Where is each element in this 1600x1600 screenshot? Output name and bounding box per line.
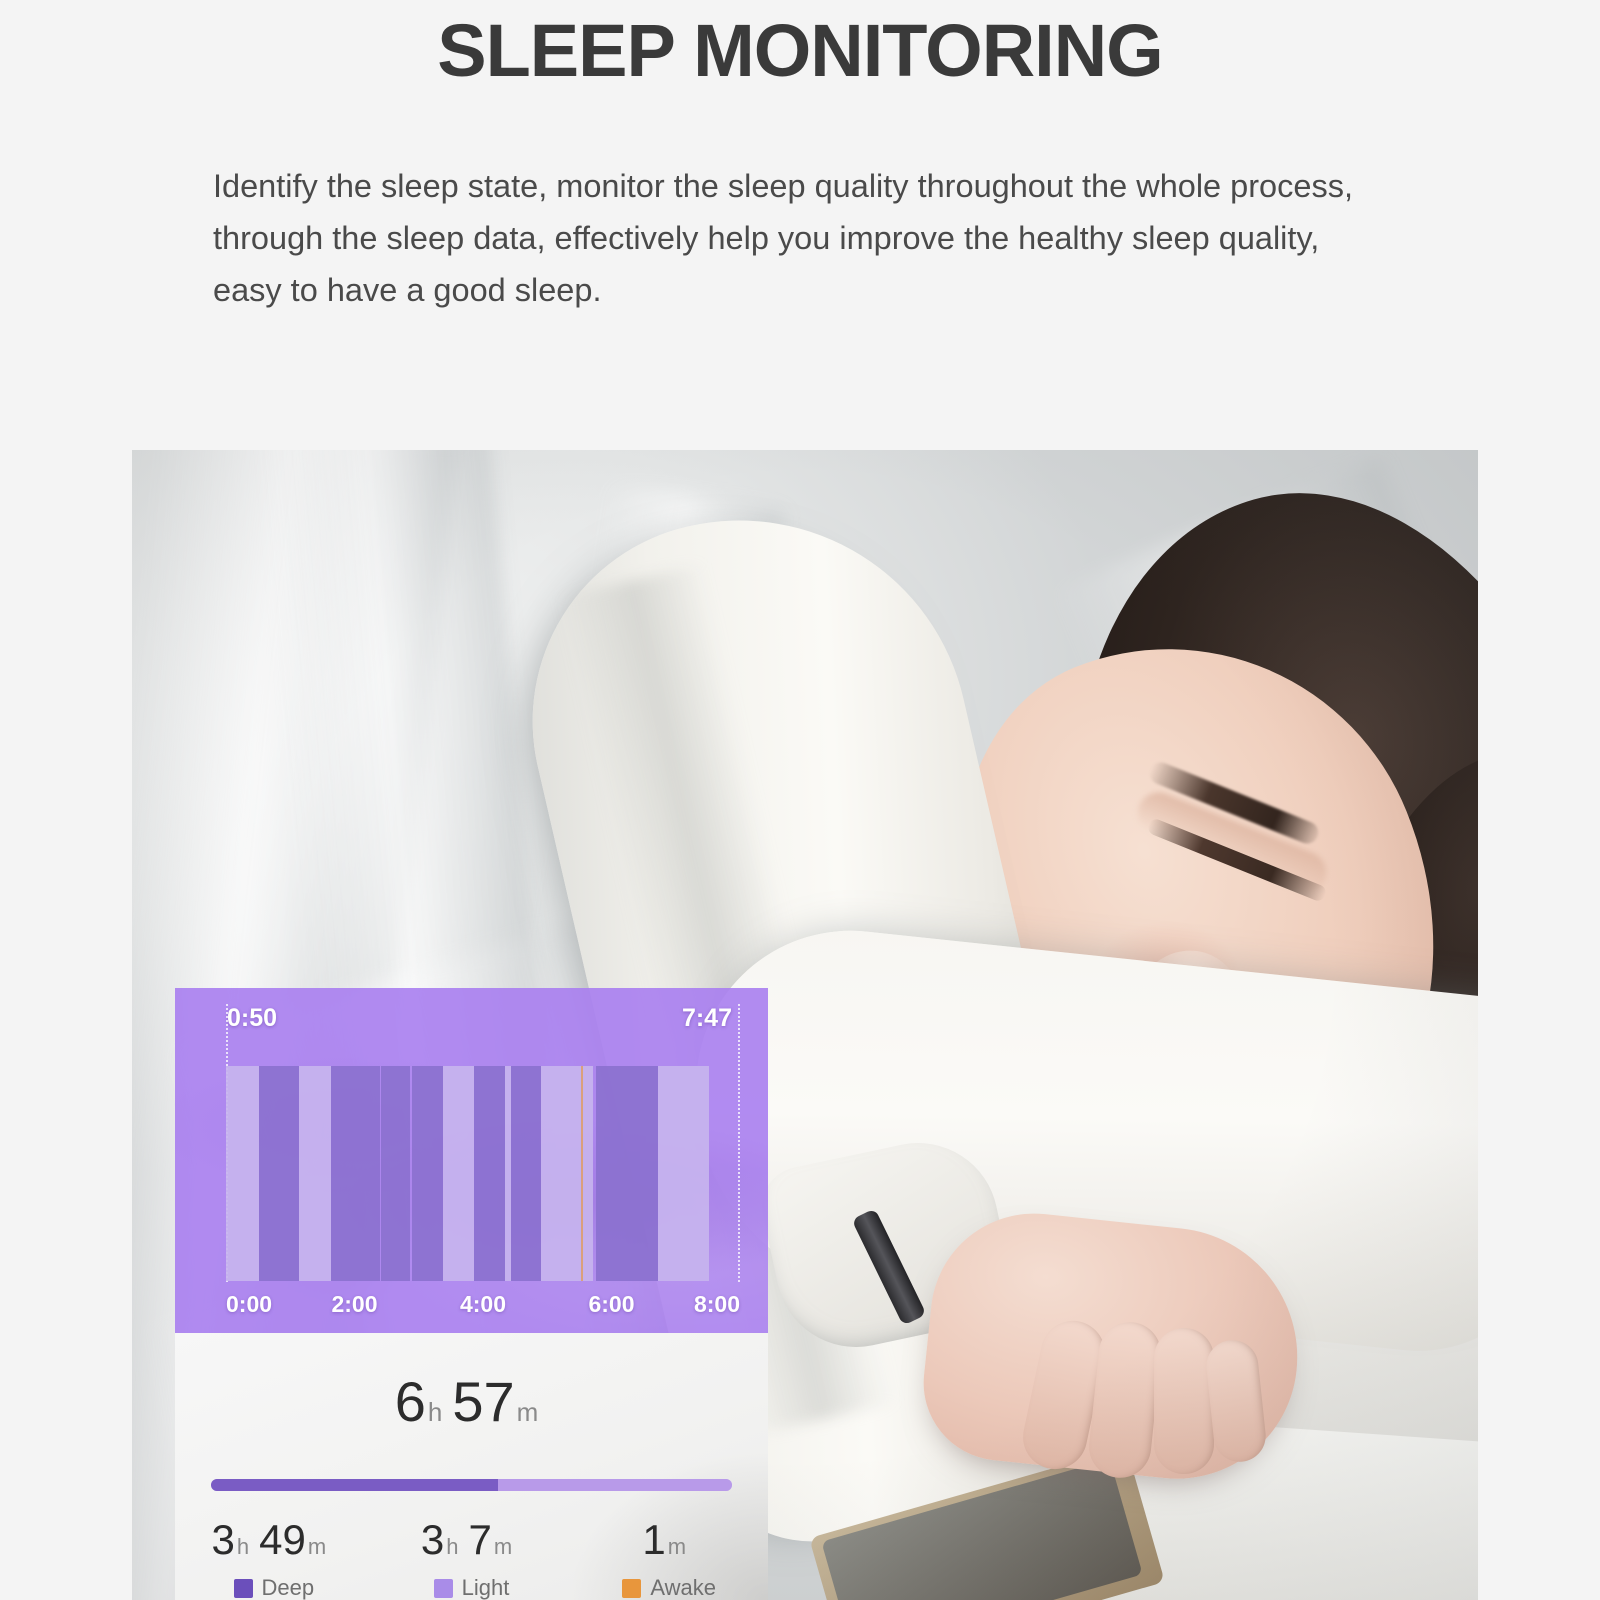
sleep-segment-deep — [259, 1066, 299, 1281]
sleep-segment-deep — [596, 1066, 658, 1281]
stat-value-awake: 1m — [570, 1519, 768, 1561]
sleep-segment-deep — [331, 1066, 380, 1281]
stat-value-light: 3h7m — [373, 1519, 571, 1561]
legend-label-light: Light — [462, 1575, 510, 1600]
legend-swatch-awake-icon — [622, 1579, 641, 1598]
sleep-segment-light — [226, 1066, 259, 1281]
stat-hours-unit-light: h — [446, 1534, 458, 1559]
sleep-segment-deep — [474, 1066, 505, 1281]
sleep-segment-deep — [381, 1066, 409, 1281]
x-axis-tick: 6:00 — [588, 1291, 634, 1318]
sleep-segment-light — [658, 1066, 709, 1281]
stat-column-light: 3h7mLight — [373, 1519, 571, 1600]
sleep-start-time: 0:50 — [227, 1004, 277, 1033]
legend-entry-deep: Deep — [175, 1575, 373, 1600]
sleep-segment-light — [541, 1066, 594, 1281]
total-hours: 6 — [395, 1370, 426, 1433]
chart-x-axis: 0:002:004:006:008:00 — [175, 1291, 768, 1321]
total-sleep-duration: 6h57m — [175, 1369, 768, 1434]
legend-entry-awake: Awake — [570, 1575, 768, 1600]
sleep-stage-chart: 0:50 7:47 0:002:004:006:008:00 — [175, 988, 768, 1333]
stat-column-awake: 1mAwake — [570, 1519, 768, 1600]
legend-label-deep: Deep — [262, 1575, 315, 1600]
page-description: Identify the sleep state, monitor the sl… — [213, 160, 1393, 316]
total-minutes-unit: m — [517, 1397, 539, 1427]
legend-entry-light: Light — [373, 1575, 571, 1600]
progress-light-segment — [498, 1479, 732, 1491]
legend-label-awake: Awake — [650, 1575, 716, 1600]
stat-minutes-unit-deep: m — [308, 1534, 326, 1559]
sleep-segment-deep — [412, 1066, 443, 1281]
stat-hours-unit-deep: h — [237, 1534, 249, 1559]
x-axis-tick: 4:00 — [460, 1291, 506, 1318]
stat-minutes-unit-light: m — [494, 1534, 512, 1559]
legend-swatch-light-icon — [434, 1579, 453, 1598]
stat-minutes-unit-awake: m — [668, 1534, 686, 1559]
sleep-stage-bars — [226, 1066, 740, 1281]
sleep-segment-light — [443, 1066, 474, 1281]
sleep-stage-legend: 3h49mDeep3h7mLight1mAwake — [175, 1519, 768, 1600]
sleep-composition-bar — [211, 1479, 732, 1491]
sleep-segment-deep — [511, 1066, 541, 1281]
page-title: SLEEP MONITORING — [0, 8, 1600, 93]
sleep-stats-panel: 6h57m 3h49mDeep3h7mLight1mAwake — [175, 1333, 768, 1600]
sleep-time-range: 0:50 7:47 — [175, 1004, 768, 1042]
stat-value-deep: 3h49m — [175, 1519, 373, 1561]
total-minutes: 57 — [452, 1370, 514, 1433]
legend-swatch-deep-icon — [234, 1579, 253, 1598]
sleep-end-time: 7:47 — [682, 1004, 732, 1033]
sleep-segment-awake — [581, 1066, 584, 1281]
stat-column-deep: 3h49mDeep — [175, 1519, 373, 1600]
sleep-segment-light — [299, 1066, 331, 1281]
total-hours-unit: h — [428, 1397, 442, 1427]
x-axis-tick: 8:00 — [694, 1291, 740, 1318]
progress-deep-segment — [211, 1479, 498, 1491]
sleep-summary-card: 0:50 7:47 0:002:004:006:008:00 6h57m 3h4… — [175, 988, 768, 1600]
x-axis-tick: 0:00 — [226, 1291, 272, 1318]
x-axis-tick: 2:00 — [331, 1291, 377, 1318]
